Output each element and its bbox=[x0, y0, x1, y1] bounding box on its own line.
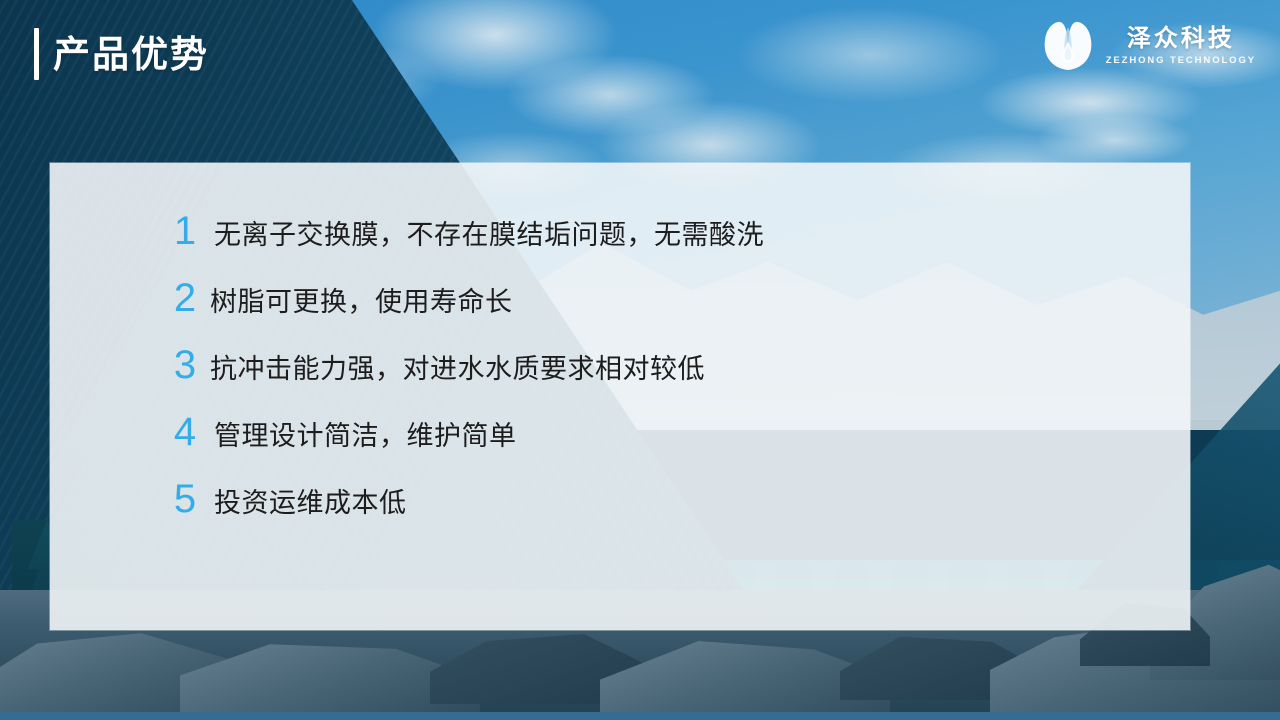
list-item-text: 管理设计简洁，维护简单 bbox=[214, 423, 517, 450]
brand-logo[interactable]: 泽众科技 ZEZHONG TECHNOLOGY bbox=[1040, 18, 1256, 74]
list-item-text: 抗冲击能力强，对进水水质要求相对较低 bbox=[210, 356, 705, 383]
list-item[interactable]: 5 投资运维成本低 bbox=[168, 479, 1168, 546]
list-item-text: 无离子交换膜，不存在膜结垢问题，无需酸洗 bbox=[214, 222, 764, 249]
logo-name-en: ZEZHONG TECHNOLOGY bbox=[1106, 55, 1256, 66]
list-item[interactable]: 4 管理设计简洁，维护简单 bbox=[168, 412, 1168, 479]
tulip-droplet-logo-icon bbox=[1040, 18, 1096, 74]
list-item-text: 树脂可更换，使用寿命长 bbox=[210, 289, 513, 316]
list-item-number: 4 bbox=[168, 412, 202, 452]
list-item-number: 5 bbox=[168, 479, 202, 519]
page-title: 产品优势 bbox=[34, 28, 209, 80]
content-panel: 1 无离子交换膜，不存在膜结垢问题，无需酸洗 2 树脂可更换，使用寿命长 3 抗… bbox=[50, 163, 1190, 630]
bottom-accent-strip bbox=[0, 712, 1280, 720]
list-item-number: 2 bbox=[168, 278, 202, 318]
logo-wordmark: 泽众科技 ZEZHONG TECHNOLOGY bbox=[1106, 26, 1256, 65]
list-item-text: 投资运维成本低 bbox=[214, 490, 407, 517]
slide-header: 产品优势 泽众科技 ZEZHONG TECHNOLOGY bbox=[0, 0, 1280, 150]
list-item[interactable]: 2 树脂可更换，使用寿命长 bbox=[168, 278, 1168, 345]
logo-name-cn: 泽众科技 bbox=[1127, 26, 1235, 51]
slide-product-advantages: 产品优势 泽众科技 ZEZHONG TECHNOLOGY bbox=[0, 0, 1280, 720]
list-item-number: 3 bbox=[168, 345, 202, 385]
advantages-list: 1 无离子交换膜，不存在膜结垢问题，无需酸洗 2 树脂可更换，使用寿命长 3 抗… bbox=[168, 211, 1168, 546]
list-item[interactable]: 3 抗冲击能力强，对进水水质要求相对较低 bbox=[168, 345, 1168, 412]
title-accent-bar bbox=[34, 28, 39, 80]
list-item-number: 1 bbox=[168, 211, 202, 251]
list-item[interactable]: 1 无离子交换膜，不存在膜结垢问题，无需酸洗 bbox=[168, 211, 1168, 278]
title-label: 产品优势 bbox=[53, 36, 209, 73]
